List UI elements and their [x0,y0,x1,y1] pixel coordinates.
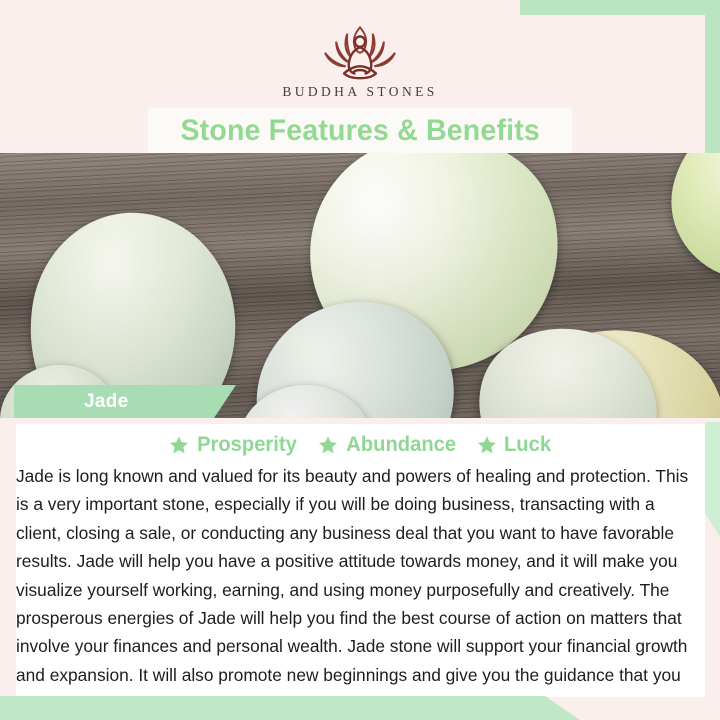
brand-name: BUDDHA STONES [282,84,437,100]
benefit-item-luck: Luck [477,433,552,457]
star-icon [477,435,497,455]
description-text: Jade is long known and valued for its be… [16,462,698,718]
page-title: Stone Features & Benefits [180,114,540,148]
benefit-label: Prosperity [197,433,297,457]
benefit-item-prosperity: Prosperity [169,433,299,457]
star-icon [318,435,338,455]
lotus-meditation-icon [312,21,408,83]
title-banner: Stone Features & Benefits [148,108,572,153]
benefits-row: Prosperity Abundance Luck [16,430,705,460]
decor-green-bottom [0,696,580,720]
stone-name-label: Jade [84,391,129,413]
jade-stones-photo [0,153,720,418]
star-icon [169,435,189,455]
brand-header: BUDDHA STONES [0,0,720,104]
benefit-label: Abundance [346,433,456,457]
benefit-label: Luck [504,433,551,457]
stone-info-card: BUDDHA STONES Stone Features & Benefits … [0,0,720,720]
benefit-item-abundance: Abundance [318,433,458,457]
stone-name-badge: Jade [14,385,236,418]
